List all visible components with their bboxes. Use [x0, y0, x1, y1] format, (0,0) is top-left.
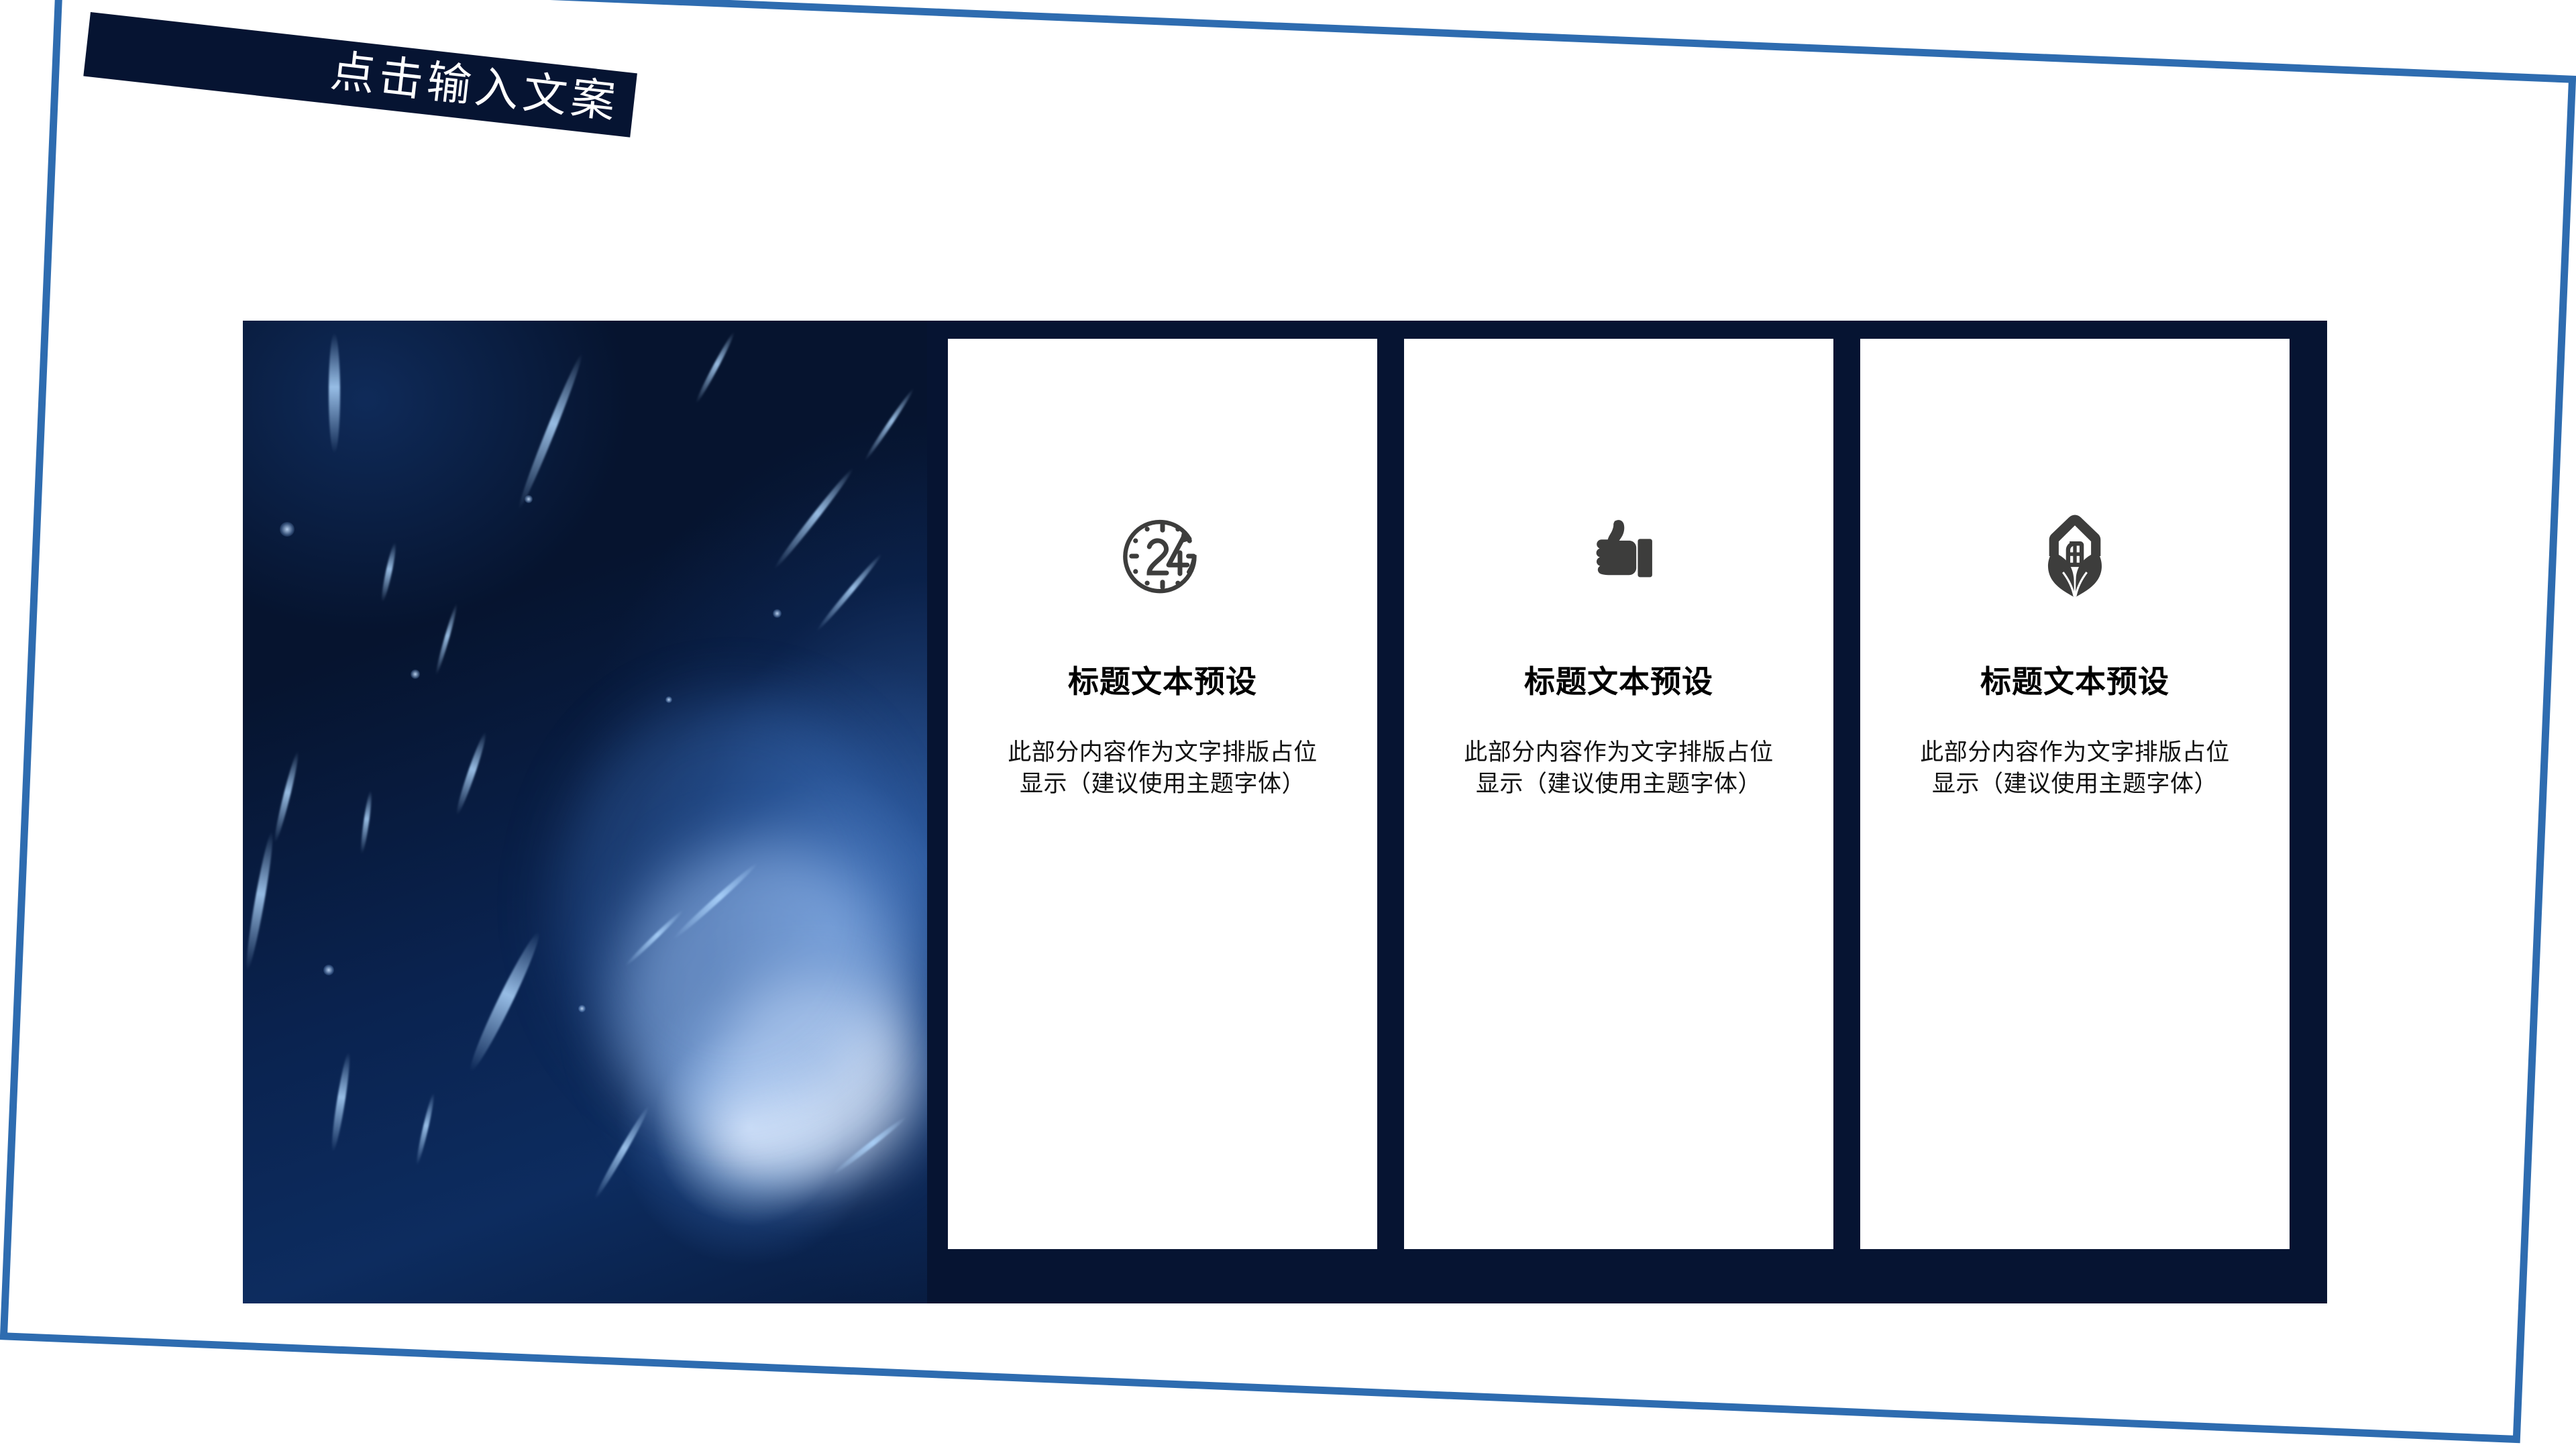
card-title: 标题文本预设	[1524, 665, 1713, 699]
eco-house-leaf-icon	[2035, 512, 2115, 600]
content-panel: 标题文本预设 此部分内容作为文字排版占位显示（建议使用主题字体） 标题文本预设 …	[243, 321, 2327, 1303]
thumbs-up-icon	[1574, 512, 1663, 600]
card-title: 标题文本预设	[1980, 665, 2169, 699]
card-list: 标题文本预设 此部分内容作为文字排版占位显示（建议使用主题字体） 标题文本预设 …	[927, 321, 2327, 1303]
24-hours-clock-icon	[1118, 512, 1207, 600]
card-title: 标题文本预设	[1068, 665, 1257, 699]
info-card[interactable]: 标题文本预设 此部分内容作为文字排版占位显示（建议使用主题字体）	[948, 339, 1377, 1249]
info-card[interactable]: 标题文本预设 此部分内容作为文字排版占位显示（建议使用主题字体）	[1860, 339, 2290, 1249]
info-card[interactable]: 标题文本预设 此部分内容作为文字排版占位显示（建议使用主题字体）	[1404, 339, 1833, 1249]
card-body: 此部分内容作为文字排版占位显示（建议使用主题字体）	[1910, 737, 2240, 800]
card-body: 此部分内容作为文字排版占位显示（建议使用主题字体）	[998, 737, 1328, 800]
card-body: 此部分内容作为文字排版占位显示（建议使用主题字体）	[1454, 737, 1784, 800]
blue-particle-background	[243, 321, 927, 1303]
